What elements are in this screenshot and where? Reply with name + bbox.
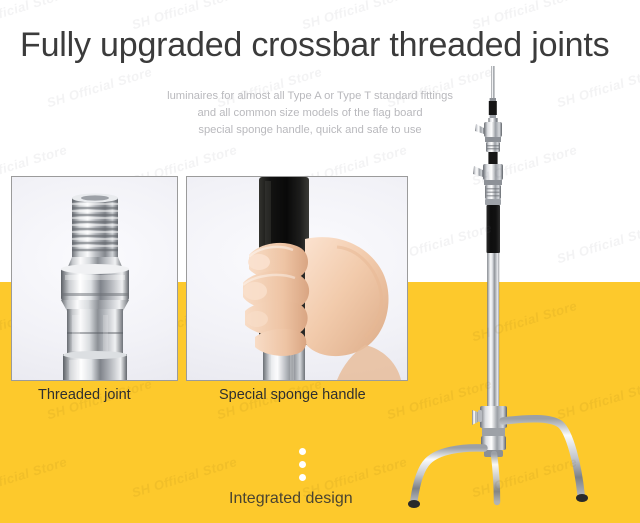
hand-palm	[305, 237, 389, 356]
product-marketing-banner: Fully upgraded crossbar threaded joints …	[0, 0, 640, 523]
base-foot-left	[408, 500, 420, 508]
caption-integrated-design: Integrated design	[229, 490, 353, 508]
base-leg-left	[414, 448, 484, 500]
mid-riser-knob	[473, 164, 503, 205]
photo-panel-sponge-handle	[186, 176, 408, 381]
bolt-lower-body	[63, 351, 127, 381]
hand-gripping-handle-photo	[187, 177, 407, 380]
base-foot-right	[576, 494, 588, 502]
finger-little	[255, 329, 306, 356]
base-leg-right	[503, 419, 581, 494]
riser-collar-upper	[488, 152, 497, 164]
fingernail-index	[248, 254, 270, 270]
bolt-flange	[61, 264, 129, 301]
caption-sponge-handle: Special sponge handle	[219, 387, 366, 403]
subtitle-line-1: luminaires for almost all Type A or Type…	[120, 88, 500, 105]
fingernail-ring	[246, 311, 268, 327]
dot-3	[299, 474, 306, 481]
base-leg-front	[494, 454, 497, 502]
dot-2	[299, 461, 306, 468]
subtitle-line-2: and all common size models of the flag b…	[120, 105, 500, 122]
page-title: Fully upgraded crossbar threaded joints	[20, 28, 620, 64]
fingernail-middle	[243, 282, 267, 300]
bolt-barrel	[67, 309, 123, 355]
threaded-bolt-photo	[35, 189, 155, 381]
bolt-threads	[72, 194, 118, 260]
photo-panel-threaded-joint	[11, 176, 178, 381]
page-subtitle: luminaires for almost all Type A or Type…	[120, 88, 500, 139]
dot-separator	[299, 448, 306, 487]
dot-1	[299, 448, 306, 455]
subtitle-line-3: special sponge handle, quick and safe to…	[120, 122, 500, 139]
caption-threaded-joint: Threaded joint	[38, 387, 131, 403]
black-sponge-grip	[487, 205, 501, 253]
